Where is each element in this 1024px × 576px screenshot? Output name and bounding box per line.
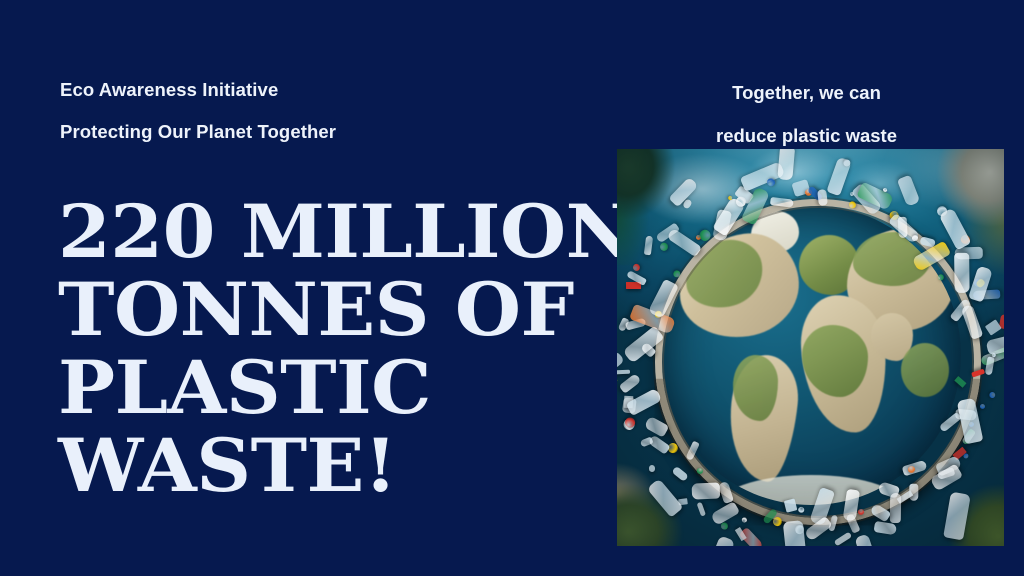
plastic-bottle xyxy=(666,227,701,256)
bottle-cap xyxy=(979,403,986,410)
plastic-bottle xyxy=(648,278,679,318)
bottle-cap xyxy=(741,517,747,523)
plastic-bottle xyxy=(640,437,654,448)
plastic-bottle xyxy=(874,521,897,535)
kicker-left-line-1: Eco Awareness Initiative xyxy=(60,79,336,100)
plastic-bottle xyxy=(770,197,794,208)
plastic-bottle-large xyxy=(854,534,877,546)
plastic-bottle-large xyxy=(943,492,971,541)
headline-line-3: PLASTIC xyxy=(58,349,640,427)
poster-canvas: Eco Awareness Initiative Protecting Our … xyxy=(0,0,1024,576)
plastic-bottle xyxy=(622,326,664,364)
headline: 220 MILLION TONNES OF PLASTIC WASTE! xyxy=(58,193,640,505)
plastic-fragment xyxy=(672,466,690,483)
plastic-bottle xyxy=(985,357,995,376)
kicker-right-line-1: Together, we can xyxy=(716,82,897,104)
plastic-bottle-large xyxy=(626,388,663,416)
plastic-fragment xyxy=(784,498,797,512)
photo-inner xyxy=(617,149,1004,546)
plastic-bottle xyxy=(960,304,983,340)
plastic-bottle xyxy=(692,483,721,500)
plastic-bottle xyxy=(644,416,669,437)
bottle-cap xyxy=(698,228,713,243)
plastic-bottle xyxy=(778,149,795,180)
kicker-left: Eco Awareness Initiative Protecting Our … xyxy=(60,58,336,163)
plastic-debris-ring xyxy=(617,149,1004,546)
bottle-cap xyxy=(721,523,728,530)
plastic-bottle-large xyxy=(707,535,735,546)
plastic-fragment xyxy=(649,465,656,473)
bottle-cap xyxy=(633,263,641,271)
plastic-bottle xyxy=(845,514,859,534)
bottle-cap xyxy=(696,467,704,475)
kicker-left-line-2: Protecting Our Planet Together xyxy=(60,121,336,142)
plastic-bottle xyxy=(644,236,653,255)
plastic-fragment xyxy=(971,369,984,377)
headline-line-2: TONNES OF xyxy=(58,271,640,349)
plastic-bottle xyxy=(685,441,700,461)
plastic-bottle xyxy=(619,373,642,394)
plastic-bottle-large xyxy=(783,520,807,546)
bottle-cap xyxy=(617,377,618,384)
plastic-fragment xyxy=(834,532,852,546)
plastic-fragment xyxy=(617,369,631,374)
bottle-cap xyxy=(988,391,996,399)
bottle-cap xyxy=(936,273,944,281)
plastic-bottle xyxy=(869,503,891,523)
plastic-bottle xyxy=(890,493,901,523)
plastic-bottle xyxy=(897,174,920,206)
bottle-cap xyxy=(857,507,865,515)
bottle-cap xyxy=(673,270,681,278)
headline-line-4: WASTE! xyxy=(58,427,640,505)
plastic-bottle xyxy=(938,412,961,433)
plastic-fragment xyxy=(954,376,966,388)
headline-line-1: 220 MILLION xyxy=(58,193,640,271)
kicker-right-line-2: reduce plastic waste xyxy=(716,125,897,147)
plastic-bottle-large xyxy=(647,478,684,517)
plastic-fragment xyxy=(817,189,827,205)
plastic-fragment xyxy=(696,502,705,517)
bottle-cap xyxy=(797,506,806,515)
plastic-bottle xyxy=(953,252,969,292)
plastic-globe-photo xyxy=(617,149,1004,546)
bottle-cap xyxy=(658,242,668,252)
plastic-fragment xyxy=(617,351,624,370)
bottle-cap xyxy=(849,201,857,209)
